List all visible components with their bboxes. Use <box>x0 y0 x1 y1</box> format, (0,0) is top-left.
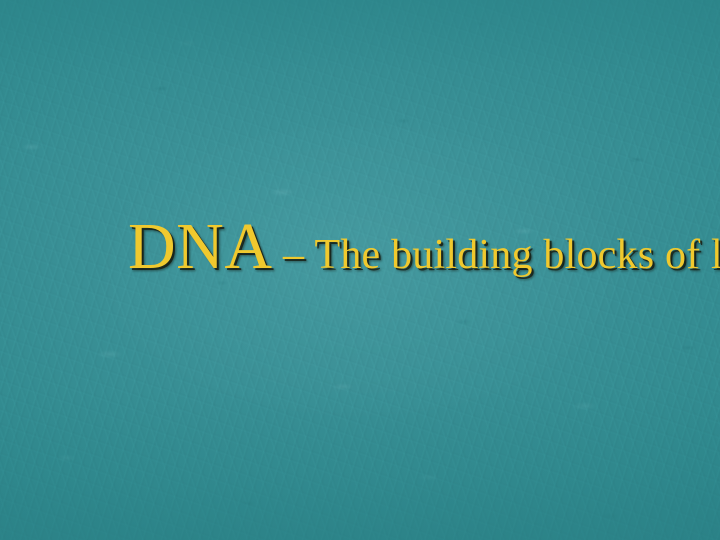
presentation-slide: DNA – The building blocks of life <box>0 0 720 540</box>
title-subtitle-text: The building blocks of life <box>315 232 720 278</box>
title-main-text: DNA <box>128 210 273 283</box>
slide-title: DNA – The building blocks of life <box>128 214 688 280</box>
title-separator-dash: – <box>273 232 315 278</box>
